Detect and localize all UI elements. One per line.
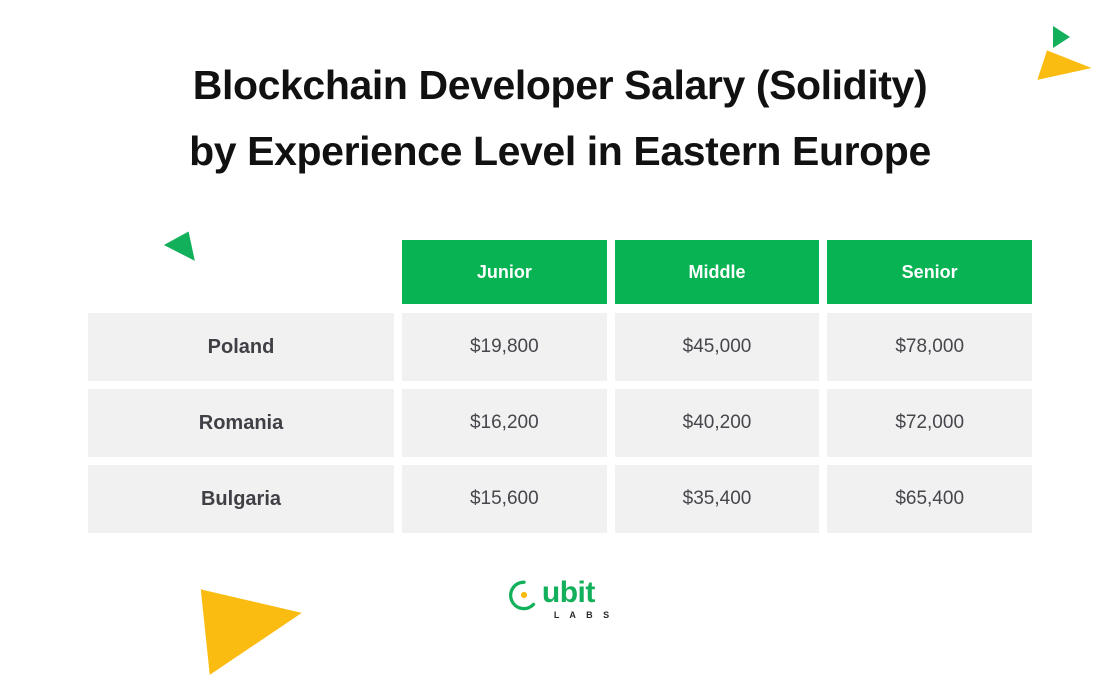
- cell-poland-senior: $78,000: [827, 313, 1032, 381]
- row-label-bulgaria: Bulgaria: [88, 465, 394, 533]
- cell-romania-junior: $16,200: [402, 389, 607, 457]
- cell-poland-junior: $19,800: [402, 313, 607, 381]
- cell-bulgaria-middle: $35,400: [615, 465, 820, 533]
- row-label-romania: Romania: [88, 389, 394, 457]
- cell-bulgaria-senior: $65,400: [827, 465, 1032, 533]
- table-row: Romania $16,200 $40,200 $72,000: [88, 389, 1032, 457]
- page-title: Blockchain Developer Salary (Solidity) b…: [0, 52, 1120, 185]
- table-row: Poland $19,800 $45,000 $78,000: [88, 313, 1032, 381]
- row-label-poland: Poland: [88, 313, 394, 381]
- salary-table: Junior Middle Senior Poland $19,800 $45,…: [88, 240, 1032, 533]
- cell-bulgaria-junior: $15,600: [402, 465, 607, 533]
- brand-logo: ubit L A B S: [0, 578, 1120, 620]
- logo-subtext: L A B S: [554, 610, 613, 620]
- column-header-middle: Middle: [615, 240, 820, 304]
- table-header-row: Junior Middle Senior: [88, 240, 1032, 304]
- column-header-junior: Junior: [402, 240, 607, 304]
- page-title-line-2: by Experience Level in Eastern Europe: [90, 118, 1030, 184]
- logo-wordmark: ubit: [542, 578, 595, 608]
- table-row: Bulgaria $15,600 $35,400 $65,400: [88, 465, 1032, 533]
- column-header-senior: Senior: [827, 240, 1032, 304]
- cell-poland-middle: $45,000: [615, 313, 820, 381]
- qubit-ring-icon: [507, 579, 541, 613]
- cell-romania-middle: $40,200: [615, 389, 820, 457]
- table-corner-cell: [88, 240, 394, 304]
- page-title-line-1: Blockchain Developer Salary (Solidity): [90, 52, 1030, 118]
- cell-romania-senior: $72,000: [827, 389, 1032, 457]
- triangle-green-top-right-icon: [1053, 26, 1070, 48]
